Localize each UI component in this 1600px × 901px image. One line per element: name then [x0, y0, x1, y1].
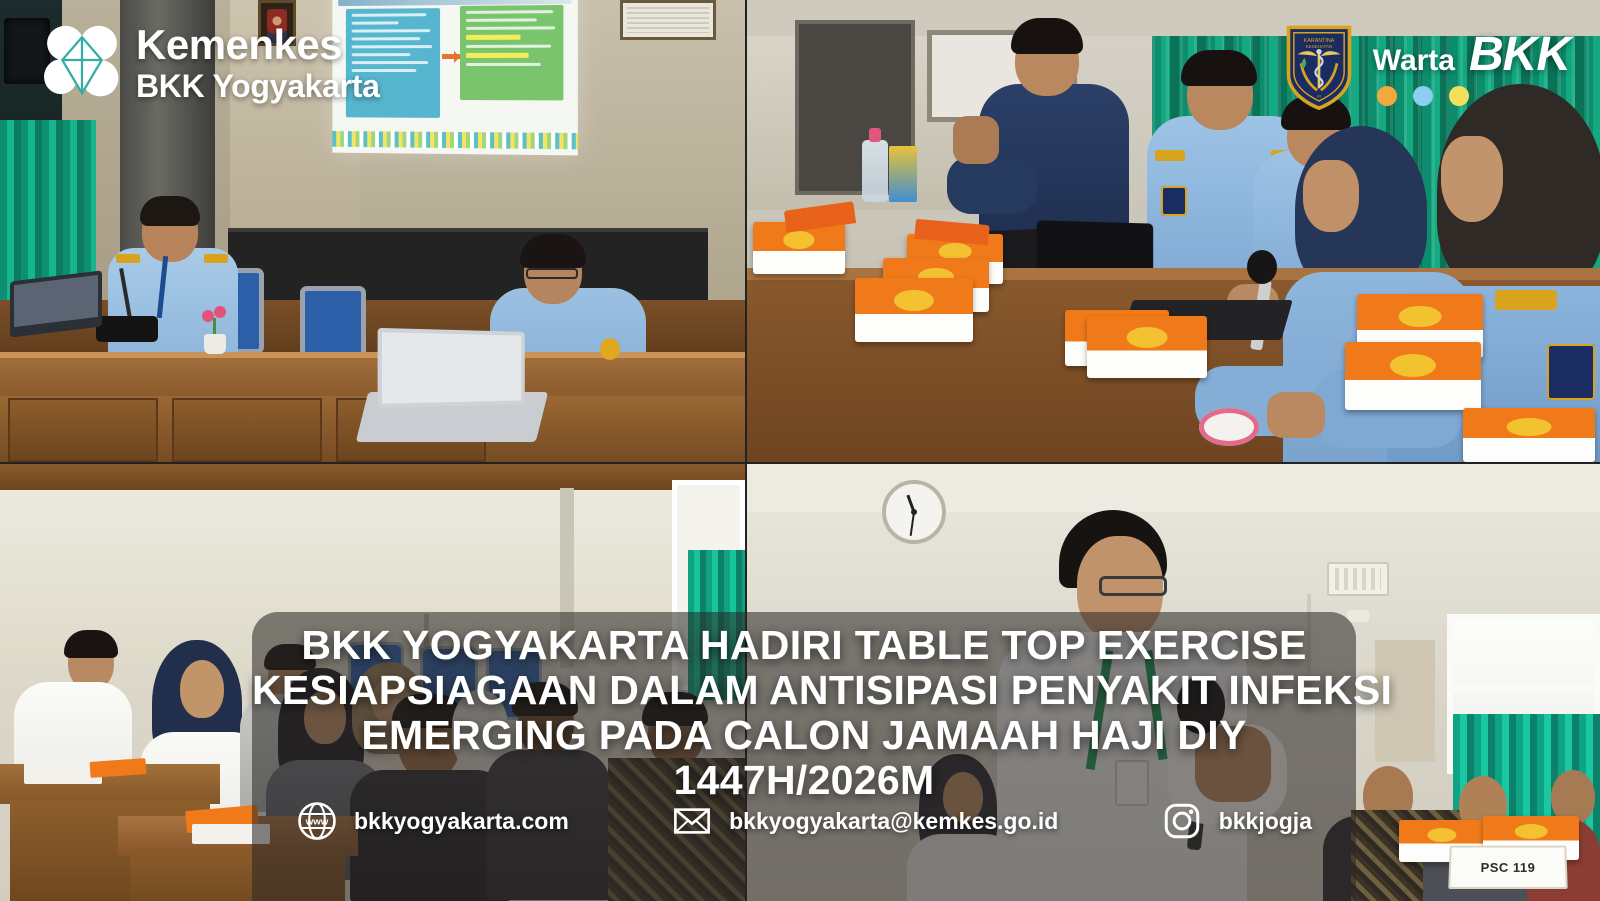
air-conditioner: [1327, 562, 1389, 596]
title-line-4: 1447H/2026M: [252, 759, 1356, 802]
page-title: BKK YOGYAKARTA HADIRI TABLE TOP EXERCISE…: [252, 622, 1356, 804]
kemenkes-branding: Kemenkes BKK Yogyakarta: [44, 22, 380, 104]
instagram-icon: [1161, 800, 1203, 842]
brand-dot-yellow: [1449, 86, 1469, 106]
kemenkes-flower-logo: [44, 22, 120, 104]
title-line-2: KESIAPSIAGAAN DALAM ANTISIPASI PENYAKIT …: [252, 669, 1356, 712]
snack-box: [1345, 342, 1481, 410]
globe-www-icon: www: [296, 800, 338, 842]
svg-text:RI: RI: [1317, 94, 1321, 98]
karantina-kesehatan-shield-emblem: KARANTINA KESEHATAN RI: [1283, 22, 1355, 110]
contact-email[interactable]: bkkyogyakarta@kemkes.go.id: [671, 800, 1058, 842]
contact-website[interactable]: www bkkyogyakarta.com: [296, 800, 569, 842]
snack-box: [1087, 316, 1207, 378]
wall-frame: [620, 0, 716, 40]
contact-footer: www bkkyogyakarta.com bkkyogyakarta@kemk…: [252, 800, 1356, 842]
website-label: bkkyogyakarta.com: [354, 808, 569, 835]
contact-instagram[interactable]: bkkjogja: [1161, 800, 1312, 842]
svg-text:KARANTINA: KARANTINA: [1303, 38, 1334, 44]
brand-dots: [1377, 86, 1570, 106]
brand-dot-orange: [1377, 86, 1397, 106]
svg-text:KESEHATAN: KESEHATAN: [1306, 44, 1332, 49]
title-line-3: EMERGING PADA CALON JAMAAH HAJI DIY: [252, 714, 1356, 757]
snack-box: [855, 278, 973, 342]
title-line-1: BKK YOGYAKARTA HADIRI TABLE TOP EXERCISE: [252, 624, 1356, 667]
kemenkes-subtitle: BKK Yogyakarta: [136, 70, 380, 102]
wall-clock: [882, 480, 946, 544]
instagram-label: bkkjogja: [1219, 808, 1312, 835]
brand-dot-blue: [1413, 86, 1433, 106]
table-name-card: PSC 119: [1448, 846, 1568, 889]
svg-text:www: www: [305, 817, 329, 828]
snack-box: [1463, 408, 1595, 462]
warta-bkk-branding: KARANTINA KESEHATAN RI Warta BKK: [1283, 22, 1570, 110]
kemenkes-title: Kemenkes: [136, 24, 380, 66]
poster-canvas: PSC 119 Kemenkes BKK Yogyaka: [0, 0, 1600, 901]
envelope-icon: [671, 800, 713, 842]
flower-pot: [198, 306, 232, 354]
warta-label: Warta: [1373, 44, 1455, 78]
email-label: bkkyogyakarta@kemkes.go.id: [729, 808, 1058, 835]
bkk-label: BKK: [1469, 27, 1570, 82]
